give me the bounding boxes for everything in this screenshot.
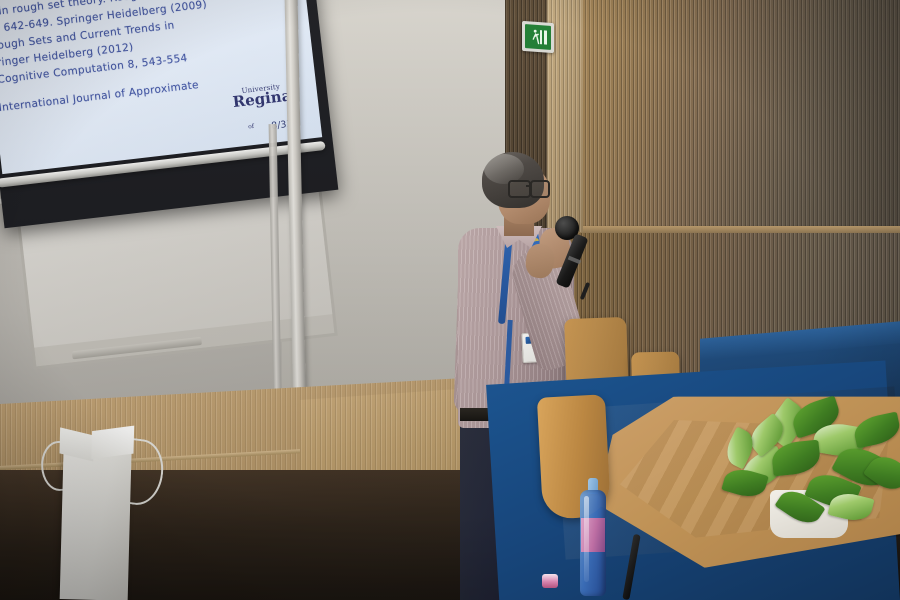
exit-sign-bar-inner (540, 30, 542, 44)
running-person-icon (532, 29, 540, 46)
potted-pothos-plant (718, 398, 900, 573)
speaker-glasses (508, 180, 552, 195)
logo-line-regina: Regina (232, 88, 292, 110)
glasses-lens-right (530, 180, 550, 198)
exit-sign-bar-outer (544, 30, 547, 44)
gift-bag-body (60, 443, 132, 600)
handheld-microphone (545, 212, 615, 302)
water-bottle (578, 478, 608, 596)
emergency-exit-sign (522, 21, 554, 53)
bottle-highlight (584, 496, 589, 582)
logo-word-of: of (248, 123, 255, 131)
exit-sign-face (525, 24, 551, 50)
microphone-antenna (580, 282, 590, 300)
gift-bag-flap-right (91, 426, 134, 460)
slide-line-7: computing. International Journal of Appr… (0, 79, 200, 122)
bottle-cap (542, 574, 558, 588)
glasses-lens-left (508, 180, 531, 198)
white-paper-gift-bag (56, 419, 141, 600)
plant-leaf (852, 412, 900, 449)
plant-leaf (770, 440, 821, 477)
photograph-scene: model. Proceedings of the telligent Syst… (0, 0, 900, 600)
